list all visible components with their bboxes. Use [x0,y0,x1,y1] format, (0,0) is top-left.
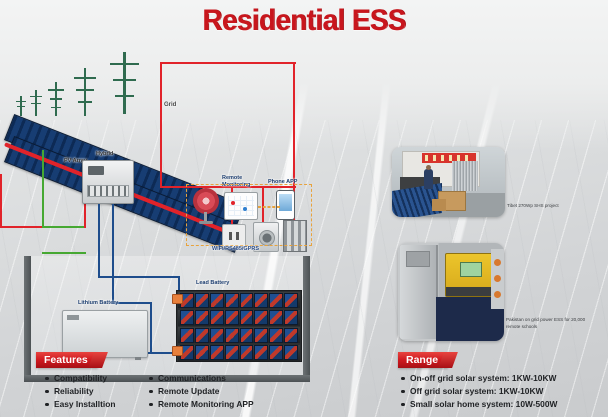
battery-cell [254,310,268,325]
ac-bus-left [0,174,2,228]
dc-line-f [150,302,152,354]
range-list: On-off grid solar system: 1KW-10KW Off g… [400,372,557,411]
cabinet-vent [406,251,430,267]
inverter-base [446,287,494,296]
page-title: Residential ESS [24,4,583,38]
battery-cell [240,310,254,325]
inverter-terminal-strip [87,185,129,197]
pv-dc-line-vertical [42,150,44,228]
battery-cell [180,310,194,325]
battery-cell [284,345,298,360]
lead-battery-label: Lead Battery [196,280,229,286]
battery-cell [195,310,209,325]
photo-inverter [445,253,495,297]
battery-cell [195,293,209,308]
lithium-battery-cabinet [62,310,148,358]
photo-cabinet [400,245,438,339]
ac-bus-top [160,62,296,64]
battery-connector-bottom [172,346,183,356]
feature-item: Compatibility [44,372,115,385]
lead-battery-bank [176,290,302,362]
lithium-battery-badge [67,315,79,320]
features-banner-label: Features [44,354,88,366]
battery-cell [210,310,224,325]
inverter-display [88,166,104,175]
lithium-battery-label: Lithium Battery [78,300,118,306]
feature-item: Easy Installtion [44,398,115,411]
battery-cell [210,345,224,360]
range-item: Small solar home system: 10W-500W [400,398,557,411]
battery-cell [269,345,283,360]
awning-text [425,155,473,161]
photo-curtain [452,161,478,191]
hybrid-inverter-device [82,160,134,204]
inverter-lcd [460,262,482,277]
battery-cell [240,345,254,360]
feature-item: Remote Update [148,385,254,398]
battery-cell [225,310,239,325]
pv-array-panels [4,60,238,156]
battery-cell [195,328,209,343]
battery-cell [210,328,224,343]
project-photo-tibet [392,147,505,217]
battery-row [178,345,300,361]
infographic-page: Residential ESS [0,0,608,417]
photo-side-panel [491,249,504,309]
features-column-2: Communications Remote Update Remote Moni… [148,372,254,411]
photo-caption-tibet: Tibet 270Wp SHS project [507,203,559,210]
battery-cell [269,310,283,325]
pv-dc-line-horizontal [42,226,84,228]
ac-load-drop [160,150,162,188]
side-indicator [494,259,501,266]
side-indicator [494,275,501,282]
battery-row [178,292,300,308]
photo-person [424,169,433,189]
battery-cell [254,328,268,343]
feature-item: Communications [148,372,254,385]
battery-cell [180,328,194,343]
battery-cell [254,345,268,360]
vault-wall-right [303,256,310,382]
range-banner: Range [398,352,448,368]
photo-crate [432,199,446,211]
feature-item: Reliability [44,385,115,398]
comm-protocol-label: WiFi/RS485/GPRS [212,246,259,252]
battery-row [178,327,300,343]
grid-label: Grid [164,102,176,108]
dc-line-b [112,204,114,304]
hybrid-label: Hybrid [96,151,113,157]
lithium-battery-foot [135,357,141,360]
vault-wall-left [24,256,31,382]
feature-item: Remote Monitoring APP [148,398,254,411]
battery-cell [284,328,298,343]
pv-dc-line-box [42,252,86,254]
battery-connector-top [172,294,183,304]
battery-cell [225,345,239,360]
range-item: Off grid solar system: 1KW-10KW [400,385,557,398]
battery-cell [269,328,283,343]
photo-caption-pakistan: Pakistan on grid power ESS for 20,000 re… [506,317,585,330]
battery-cell [269,293,283,308]
battery-cell [195,345,209,360]
battery-cell [284,310,298,325]
dc-line-c [98,276,180,278]
side-indicator [494,291,501,298]
features-column-1: Compatibility Reliability Easy Installti… [44,372,115,411]
comm-link-phone [258,206,280,208]
battery-cell [254,293,268,308]
project-photo-pakistan [398,243,504,341]
range-banner-label: Range [406,354,438,366]
battery-cell [225,328,239,343]
grid-drop-line [160,62,162,154]
range-item: On-off grid solar system: 1KW-10KW [400,372,557,385]
features-banner: Features [36,352,98,368]
battery-cell [225,293,239,308]
battery-cell [240,328,254,343]
comm-loop-dashed [186,184,312,246]
battery-cell [210,293,224,308]
battery-cell [284,293,298,308]
battery-row [178,310,300,326]
dc-line-a [98,204,100,278]
battery-cell [240,293,254,308]
system-diagram: PV Array Grid Hybrid [0,38,340,348]
